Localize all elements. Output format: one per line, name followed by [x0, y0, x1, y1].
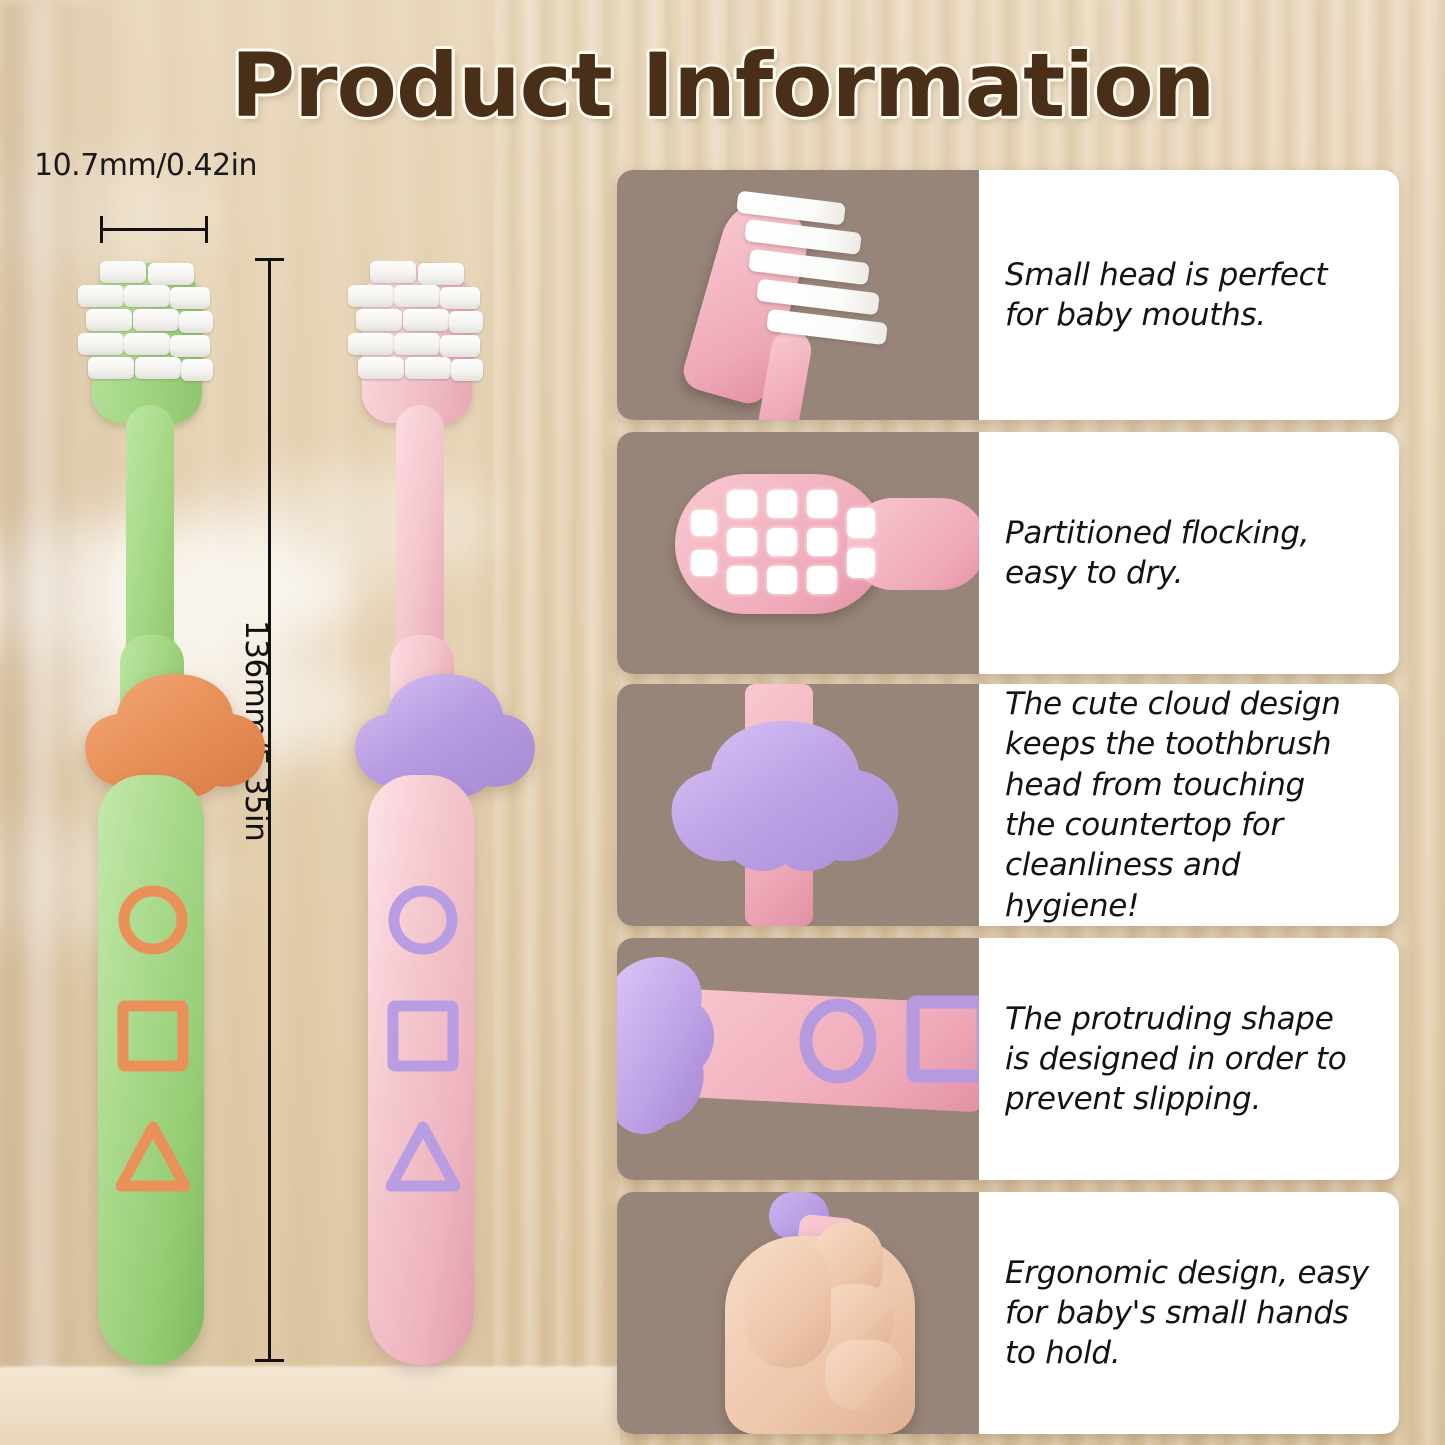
width-dimension-label: 10.7mm/0.42in [34, 148, 257, 183]
feature-photo-hand-holding [617, 1192, 979, 1434]
green-brush-bristles [78, 261, 203, 406]
counter-surface [0, 1368, 620, 1445]
feature-line: head from touching [1005, 767, 1305, 803]
feature-line: Partitioned flocking, [1005, 515, 1309, 551]
feature-line: is designed in order to [1005, 1041, 1346, 1077]
green-grip-triangle [116, 1120, 190, 1192]
green-grip-square [117, 1000, 189, 1072]
pink-toothbrush [340, 255, 540, 1365]
pink-brush-bristles [348, 261, 473, 406]
feature-text-ergonomic: Ergonomic design, easy for baby's small … [979, 1192, 1399, 1434]
photo-grip-square [905, 994, 979, 1084]
feature-photo-cloud-guard [617, 684, 979, 926]
pink-grip-square [387, 1000, 459, 1072]
feature-card-ergonomic: Ergonomic design, easy for baby's small … [617, 1192, 1399, 1434]
feature-line: cleanliness and hygiene! [1005, 847, 1240, 923]
feature-line: to hold. [1005, 1335, 1120, 1371]
photo-finger [825, 1340, 903, 1410]
feature-text-anti-slip: The protruding shape is designed in orde… [979, 938, 1399, 1180]
feature-line: Ergonomic design, easy [1005, 1255, 1369, 1291]
feature-line: prevent slipping. [1005, 1081, 1261, 1117]
feature-text-small-head: Small head is perfect for baby mouths. [979, 170, 1399, 420]
feature-text-partitioned-flocking: Partitioned flocking, easy to dry. [979, 432, 1399, 674]
green-grip-circle [118, 885, 188, 955]
feature-card-cloud-design: The cute cloud design keeps the toothbru… [617, 684, 1399, 926]
feature-line: The cute cloud design [1005, 686, 1341, 722]
photo-thumb [745, 1238, 831, 1368]
feature-photo-flocking-tufts [617, 432, 979, 674]
pink-grip-triangle [386, 1120, 460, 1192]
feature-line: for baby's small hands [1005, 1295, 1349, 1331]
green-toothbrush [70, 255, 270, 1365]
background-left-highlight [28, 0, 54, 1445]
feature-line: The protruding shape [1005, 1001, 1333, 1037]
width-dimension-bar [100, 228, 208, 231]
feature-line: keeps the toothbrush [1005, 726, 1331, 762]
feature-line: for baby mouths. [1005, 297, 1266, 333]
feature-line: the countertop for [1005, 807, 1283, 843]
feature-card-anti-slip: The protruding shape is designed in orde… [617, 938, 1399, 1180]
feature-card-partitioned-flocking: Partitioned flocking, easy to dry. [617, 432, 1399, 674]
photo-cloud-guard-left [617, 954, 721, 1144]
feature-photo-handle-grips [617, 938, 979, 1180]
page-title: Product Information [0, 34, 1445, 137]
feature-photo-brush-head-closeup [617, 170, 979, 420]
feature-card-small-head: Small head is perfect for baby mouths. [617, 170, 1399, 420]
feature-line: Small head is perfect [1005, 257, 1327, 293]
pink-grip-circle [388, 885, 458, 955]
feature-text-cloud-design: The cute cloud design keeps the toothbru… [979, 684, 1399, 926]
photo-grip-circle [797, 998, 879, 1084]
product-information-poster: Product Information 10.7mm/0.42in 136mm/… [0, 0, 1445, 1445]
photo-cloud-guard-shape [665, 716, 905, 874]
feature-line: easy to dry. [1005, 555, 1183, 591]
